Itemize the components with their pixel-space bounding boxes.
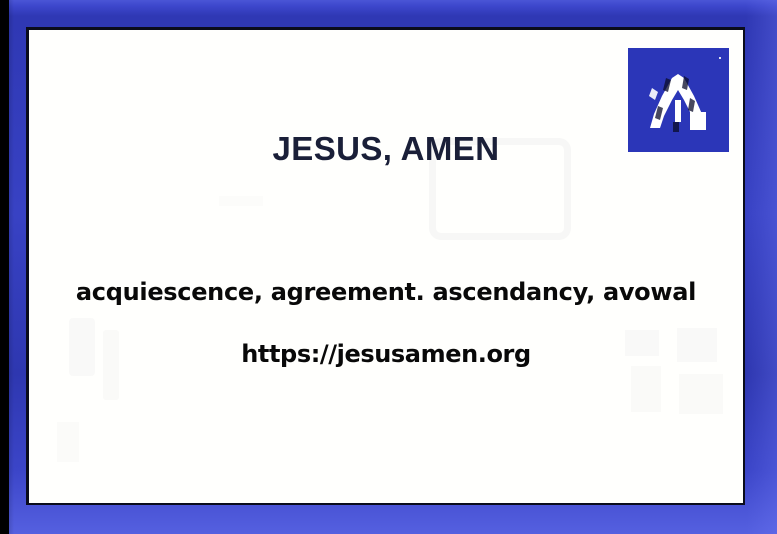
- slide-body-text: acquiescence, agreement. ascendancy, avo…: [29, 278, 743, 306]
- background-watermark-artifact: [631, 366, 661, 412]
- slide-content-canvas: JESUS, AMEN acquiescence, agreement. asc…: [29, 30, 743, 503]
- background-watermark-artifact: [57, 422, 79, 462]
- background-watermark-artifact: [219, 196, 263, 206]
- presentation-slide-frame: JESUS, AMEN acquiescence, agreement. asc…: [0, 0, 777, 534]
- background-watermark-artifact: [679, 374, 723, 414]
- jesus-amen-logo-icon: [628, 48, 729, 152]
- logo-speck: [719, 57, 721, 59]
- slide-url-text[interactable]: https://jesusamen.org: [29, 340, 743, 368]
- left-black-strip: [0, 0, 9, 534]
